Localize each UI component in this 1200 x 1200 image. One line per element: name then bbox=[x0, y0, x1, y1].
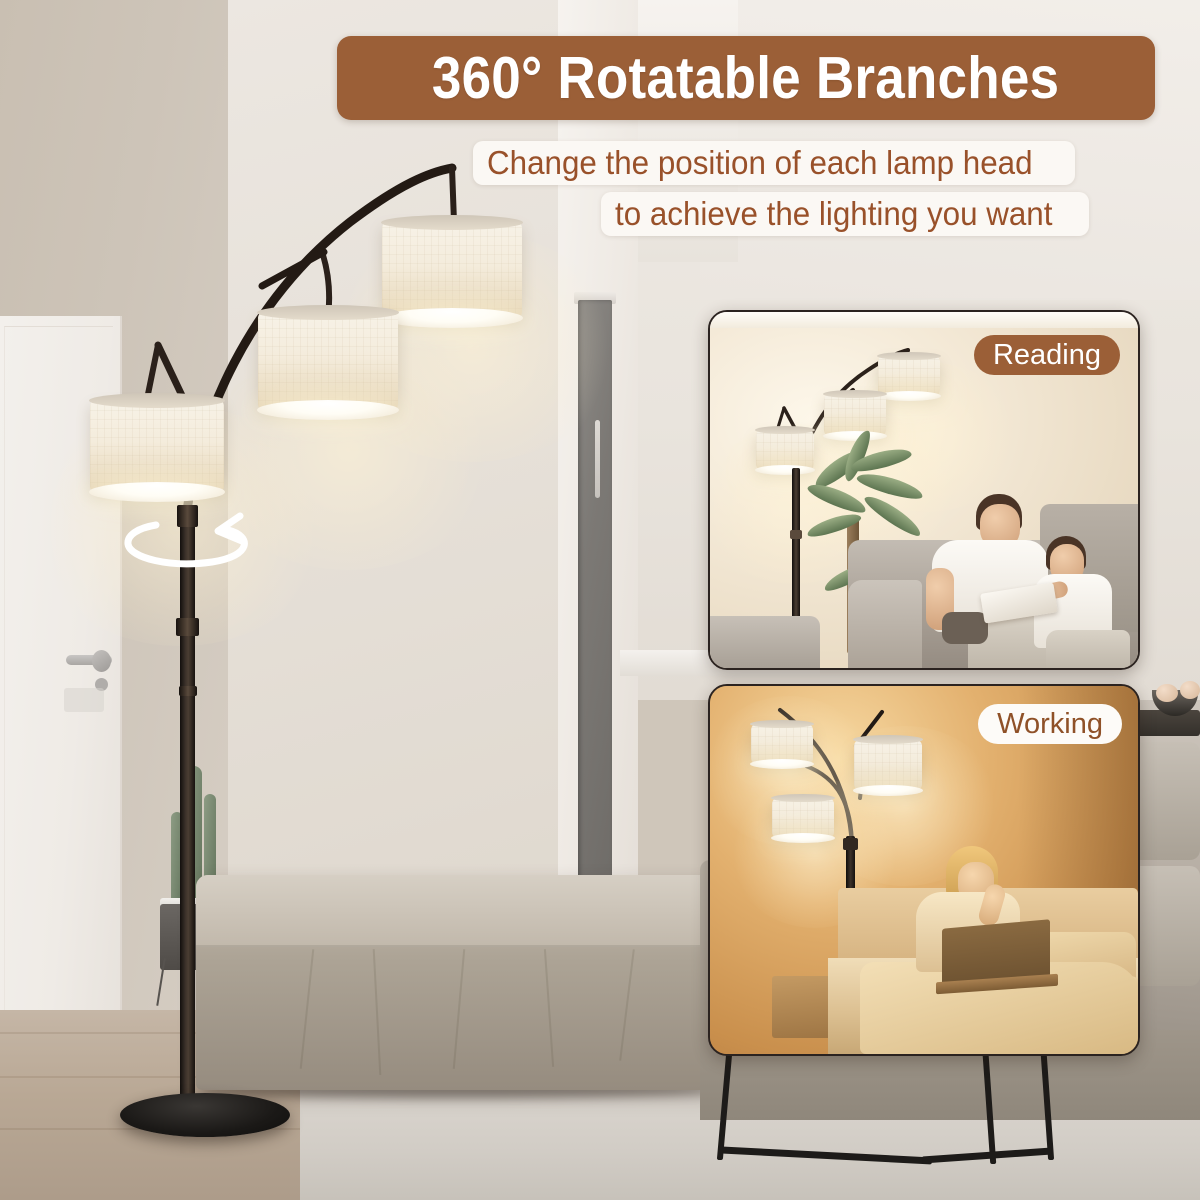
refrigerator-handle-recess bbox=[578, 300, 612, 960]
reading-sofa-arm bbox=[848, 580, 922, 668]
ottoman bbox=[196, 875, 716, 1090]
lamp-base bbox=[120, 1093, 290, 1137]
working-shade-right bbox=[854, 740, 922, 790]
badge-reading: Reading bbox=[974, 335, 1120, 375]
door-handle-rosette bbox=[92, 650, 111, 672]
working-shade-top-left bbox=[751, 724, 813, 764]
badge-working: Working bbox=[978, 704, 1122, 744]
fruit bbox=[1180, 681, 1200, 699]
shade-light-diffuser bbox=[257, 400, 399, 420]
page-title: 360° Rotatable Branches bbox=[432, 44, 1059, 112]
shade-rim-top bbox=[89, 393, 225, 408]
title-banner: 360° Rotatable Branches bbox=[337, 36, 1155, 120]
shade-light-diffuser bbox=[381, 308, 523, 328]
rotation-arrow-icon bbox=[112, 500, 262, 578]
reading-sofa-left bbox=[710, 616, 820, 668]
subtitle-pill-line2: to achieve the lighting you want bbox=[601, 192, 1089, 236]
subtitle-line1-text: Change the position of each lamp head bbox=[487, 144, 1033, 182]
reading-shade-right bbox=[878, 356, 940, 396]
shade-rim-top bbox=[381, 215, 523, 230]
door-strike-plate bbox=[64, 688, 104, 712]
subtitle-pill-line1: Change the position of each lamp head bbox=[473, 141, 1075, 185]
refrigerator-handle-slot bbox=[595, 420, 600, 498]
badge-reading-label: Reading bbox=[993, 339, 1101, 372]
reading-shade-left bbox=[756, 430, 814, 470]
panel-reading[interactable]: Reading bbox=[708, 310, 1140, 670]
working-pole-collar bbox=[843, 838, 858, 850]
reading-child-legs bbox=[1046, 630, 1130, 670]
fruit bbox=[1156, 684, 1178, 702]
subtitle-line2-text: to achieve the lighting you want bbox=[615, 195, 1052, 233]
ottoman-cushion-top bbox=[196, 875, 716, 947]
working-shade-bottom-left bbox=[772, 798, 834, 838]
reading-shade-middle bbox=[824, 394, 886, 436]
badge-working-label: Working bbox=[997, 708, 1103, 741]
reading-adult-knee bbox=[942, 612, 988, 644]
pole-clamp bbox=[179, 686, 197, 696]
lamp-shade-right bbox=[382, 222, 522, 318]
lamp-pole bbox=[180, 508, 195, 1108]
lamp-shade-middle bbox=[258, 312, 398, 410]
lamp-shade-left bbox=[90, 400, 224, 492]
shade-rim-top bbox=[257, 305, 399, 320]
pole-height-adjuster bbox=[176, 618, 199, 636]
shade-light-diffuser bbox=[89, 482, 225, 502]
panel-working[interactable]: Working bbox=[708, 684, 1140, 1056]
reading-pole-joint bbox=[790, 530, 802, 539]
